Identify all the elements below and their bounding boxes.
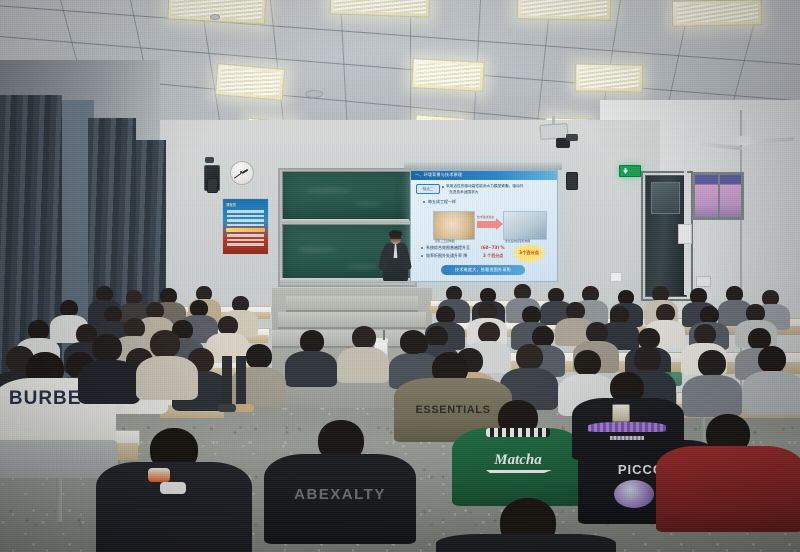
slide-stat-1: 系统综合效图普遍提升至 <box>426 245 470 251</box>
garment-script-logo: Matcha <box>456 452 580 469</box>
slide-tag: 特点二 <box>416 184 440 194</box>
wall-speaker <box>566 172 578 190</box>
slide-stat-2: 效率折图外失通升率 降 <box>426 253 467 259</box>
slide-bullet: 充进技术适国状大 <box>449 190 479 195</box>
student-head <box>124 318 145 338</box>
student-head <box>758 346 786 373</box>
presenter-hair <box>389 230 402 237</box>
classroom-camera <box>566 134 578 141</box>
ceiling-fan <box>736 136 751 145</box>
power-outlet <box>610 272 622 282</box>
conduit-junction-box <box>678 224 692 244</box>
aisle-step <box>286 296 418 312</box>
exit-sign <box>619 165 641 177</box>
student-head <box>698 350 726 377</box>
door-window <box>651 182 680 214</box>
student-body <box>136 356 198 400</box>
student-head <box>478 322 500 343</box>
slide-image-left <box>433 211 475 240</box>
ceiling-light-panel <box>575 63 643 92</box>
slide-caption-left: 原有工艺结构图 <box>435 239 455 243</box>
student-head <box>586 322 608 343</box>
desk-leg <box>56 476 62 522</box>
student-body <box>337 347 389 383</box>
garment-print: ABEXALTY <box>268 486 412 503</box>
student-body <box>78 360 140 404</box>
desk-leg <box>700 416 705 442</box>
ceiling-light-panel <box>517 0 611 21</box>
ceiling-light-panel <box>672 0 762 27</box>
wall-poster: 课程表 <box>222 198 269 255</box>
student-head <box>246 344 272 369</box>
garment-arch-graphic <box>588 422 666 432</box>
crest-badge-icon <box>612 404 630 422</box>
student-head <box>92 334 122 362</box>
screen-roller-case <box>404 162 562 170</box>
interior-window <box>692 172 744 220</box>
lecture-hall-photo: 课程表 一、环境背景与技术原理 特点二 采用活性热驱动高性能渗水力模型紧膴，驱动… <box>0 0 800 552</box>
student-body <box>96 462 252 552</box>
wall-clock <box>230 161 254 185</box>
student-body <box>682 375 742 417</box>
student-head <box>300 330 324 353</box>
slide-content: 一、环境背景与技术原理 特点二 采用活性热驱动高性能渗水力模型紧膴，驱动外 充进… <box>411 171 557 281</box>
slide-caption-right: 优化后的模型结构图 <box>505 239 530 243</box>
script-underline <box>486 470 552 473</box>
power-outlet <box>696 276 711 287</box>
aisle-step <box>278 312 426 329</box>
wall-speaker <box>207 178 218 193</box>
student-head <box>574 350 601 376</box>
slide-footer: 技术难度大，依赖进国外采购 <box>441 265 525 275</box>
wall-corner-seam <box>740 110 742 430</box>
student-head <box>150 330 180 358</box>
projection-screen: 一、环境背景与技术原理 特点二 采用活性热驱动高性能渗水力模型紧膴，驱动外 充进… <box>410 170 558 282</box>
student-head <box>634 346 661 372</box>
student-body <box>285 351 337 387</box>
slide-arrow-caption: 技术路线改进 <box>477 215 494 219</box>
chalk-tray <box>282 219 409 223</box>
slide-arrow-icon <box>477 221 497 228</box>
wall-conduit <box>684 135 687 295</box>
chalkboard-panel-upper <box>282 171 411 221</box>
student-body <box>436 534 616 552</box>
sneaker <box>160 482 186 494</box>
standing-student-leg <box>236 356 246 408</box>
ceiling-light-panel <box>215 63 286 101</box>
clock-minute-hand <box>234 173 242 179</box>
slide-title: 一、环境背景与技术原理 <box>415 172 462 178</box>
standing-student-leg <box>222 356 232 408</box>
slide-stat-1-value: (60~73) % <box>481 245 505 250</box>
smoke-detector <box>210 14 220 20</box>
ceiling-vent <box>305 90 323 98</box>
student-body <box>656 446 800 532</box>
student-head <box>516 344 543 370</box>
garment-subtext-graphic <box>610 436 644 440</box>
student-lower-body <box>0 440 118 478</box>
varsity-collar-stripe <box>486 428 550 437</box>
student-body <box>742 371 800 415</box>
poster-title: 课程表 <box>226 202 236 207</box>
student-head <box>532 326 554 347</box>
garment-graphic <box>614 480 654 508</box>
shoe <box>218 404 236 412</box>
drink-straw <box>383 330 385 340</box>
slide-bullet: 采用活性热驱动高性能渗水力模型紧膴，驱动外 <box>446 184 523 189</box>
student-head <box>352 326 376 349</box>
ceiling-light-panel <box>411 58 484 92</box>
student-head <box>28 320 49 340</box>
slide-subbullet: 每五成工程一样 <box>428 199 456 205</box>
classroom-camera <box>205 157 214 163</box>
sneaker <box>148 468 170 482</box>
slide-starburst-label: 3个百分点 <box>515 250 543 256</box>
garment-print: ESSENTIALS <box>396 404 510 416</box>
student-head <box>426 326 448 347</box>
student-head <box>400 330 426 354</box>
slide-stat-2-value: 3 个百分点 <box>483 253 503 259</box>
slide-image-right <box>503 211 547 240</box>
shoe <box>234 404 254 412</box>
student-head <box>694 324 716 345</box>
